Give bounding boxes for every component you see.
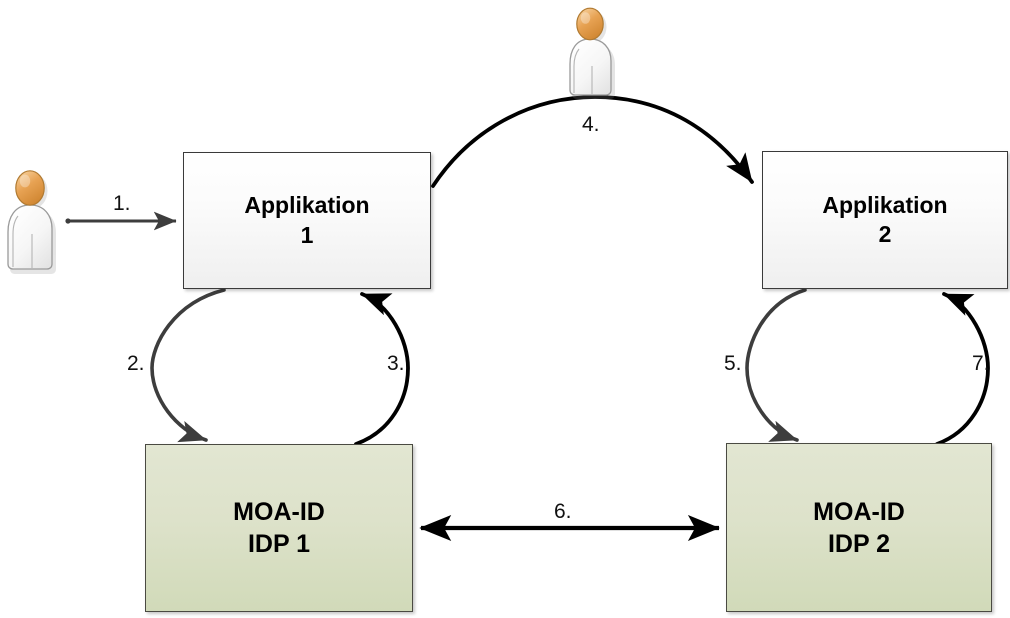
- arrow-app1-to-app2: [433, 97, 752, 186]
- arrow-user-to-app1: [65, 218, 176, 223]
- moa-id-idp-2-box[interactable]: MOA-ID IDP 2: [726, 443, 992, 612]
- step-label-2: 2.: [127, 352, 145, 376]
- application-1-label-line2: 1: [301, 221, 314, 250]
- diagram-canvas: Applikation 1 Applikation 2 MOA-ID IDP 1…: [0, 0, 1010, 618]
- arrow-app1-to-idp1: [152, 290, 224, 440]
- application-2-label-line1: Applikation: [822, 191, 947, 220]
- step-label-7: 7.: [972, 352, 990, 376]
- step-label-6: 6.: [554, 500, 572, 524]
- user-actor-left: [8, 171, 56, 274]
- moa-id-idp-1-label-line1: MOA-ID: [233, 496, 325, 528]
- application-1-box[interactable]: Applikation 1: [183, 152, 431, 289]
- step-label-1: 1.: [113, 192, 131, 216]
- user-actor-top: [570, 8, 615, 99]
- moa-id-idp-2-label-line1: MOA-ID: [813, 496, 905, 528]
- moa-id-idp-1-box[interactable]: MOA-ID IDP 1: [145, 444, 413, 612]
- application-2-box[interactable]: Applikation 2: [762, 151, 1008, 289]
- moa-id-idp-2-label-line2: IDP 2: [828, 528, 890, 560]
- step-label-5: 5.: [724, 352, 742, 376]
- step-label-3: 3.: [387, 352, 405, 376]
- step-label-4: 4.: [582, 113, 600, 137]
- application-2-label-line2: 2: [879, 220, 892, 249]
- moa-id-idp-1-label-line2: IDP 1: [248, 528, 310, 560]
- application-1-label-line1: Applikation: [244, 191, 369, 220]
- arrow-app2-to-idp2: [747, 290, 805, 440]
